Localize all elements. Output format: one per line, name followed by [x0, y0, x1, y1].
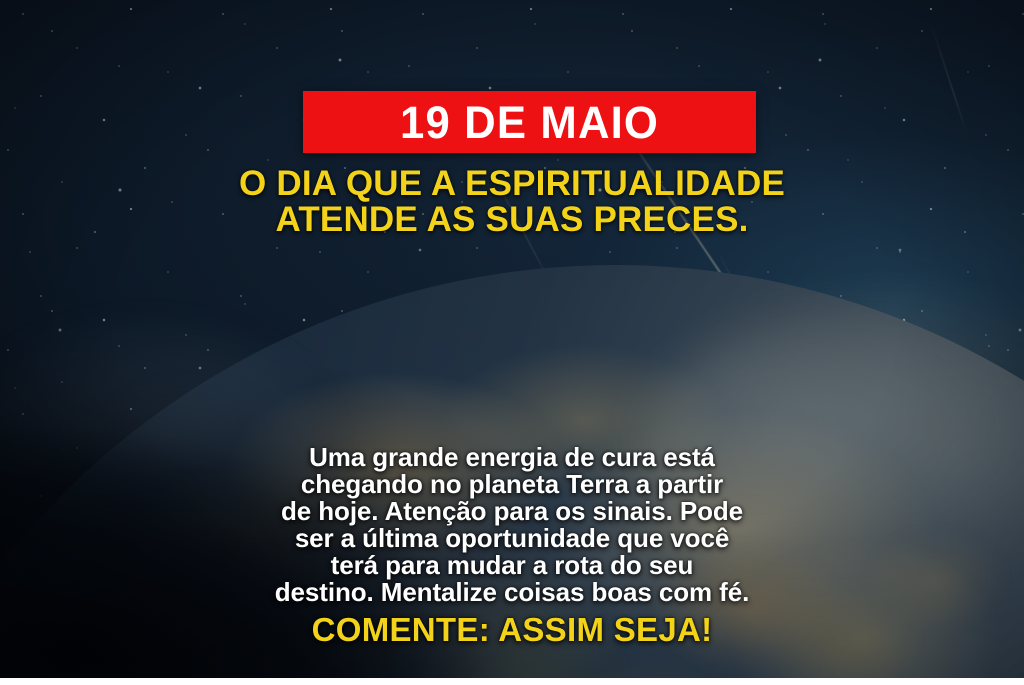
headline-line-1: O DIA QUE A ESPIRITUALIDADE	[0, 166, 1024, 202]
date-banner-text: 19 DE MAIO	[400, 100, 659, 145]
body-line-3: de hoje. Atenção para os sinais. Pode	[0, 498, 1024, 525]
body-line-1: Uma grande energia de cura está	[0, 444, 1024, 471]
date-banner: 19 DE MAIO	[303, 91, 756, 153]
body-line-4: ser a última oportunidade que você	[0, 525, 1024, 552]
call-to-action-text: COMENTE: ASSIM SEJA!	[0, 611, 1024, 649]
poster-content: 19 DE MAIO O DIA QUE A ESPIRITUALIDADE A…	[0, 0, 1024, 685]
body-line-5: terá para mudar a rota do seu	[0, 552, 1024, 579]
body-line-2: chegando no planeta Terra a partir	[0, 471, 1024, 498]
body-copy: Uma grande energia de cura está chegando…	[0, 444, 1024, 606]
poster-canvas: 19 DE MAIO O DIA QUE A ESPIRITUALIDADE A…	[0, 0, 1024, 685]
body-line-6: destino. Mentalize coisas boas com fé.	[0, 579, 1024, 606]
headline-line-2: ATENDE AS SUAS PRECES.	[0, 202, 1024, 238]
headline: O DIA QUE A ESPIRITUALIDADE ATENDE AS SU…	[0, 166, 1024, 238]
bottom-white-strip	[0, 678, 1024, 685]
